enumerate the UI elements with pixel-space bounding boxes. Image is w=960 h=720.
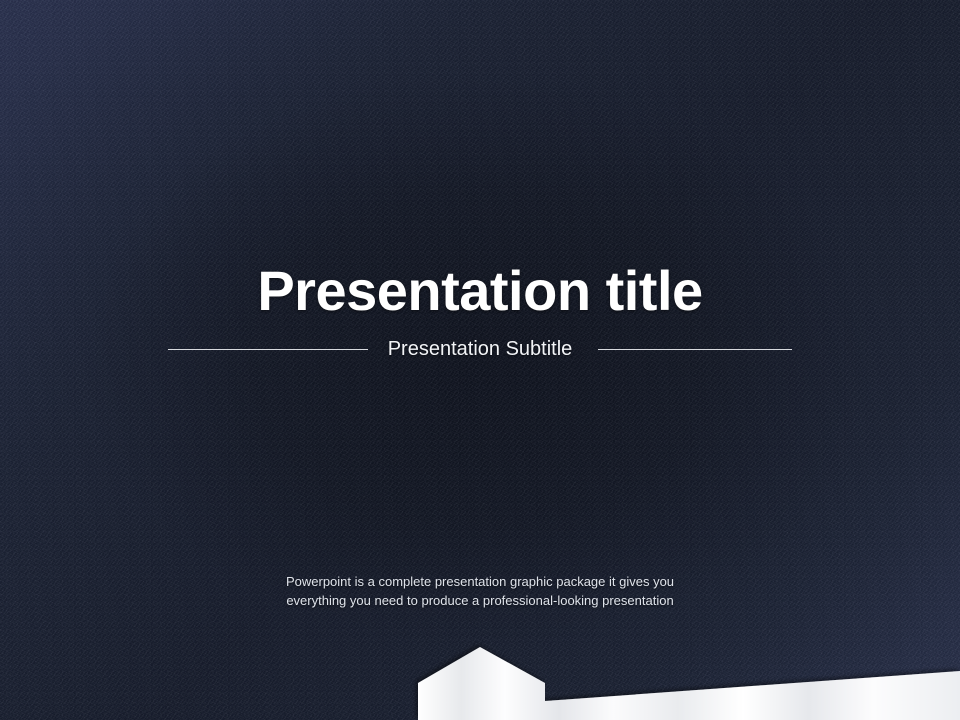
- divider-rule-right: [598, 349, 792, 350]
- slide-title[interactable]: Presentation title: [0, 262, 960, 321]
- body-line-1: Powerpoint is a complete presentation gr…: [0, 572, 960, 591]
- body-line-2: everything you need to produce a profess…: [0, 591, 960, 610]
- body-paragraph[interactable]: Powerpoint is a complete presentation gr…: [0, 572, 960, 610]
- decoration-polygon: [418, 647, 960, 720]
- title-block: Presentation title: [0, 262, 960, 321]
- subtitle-row: Presentation Subtitle: [0, 336, 960, 362]
- divider-rule-left: [168, 349, 368, 350]
- presentation-slide: Presentation title Presentation Subtitle…: [0, 0, 960, 720]
- slide-subtitle[interactable]: Presentation Subtitle: [388, 338, 573, 361]
